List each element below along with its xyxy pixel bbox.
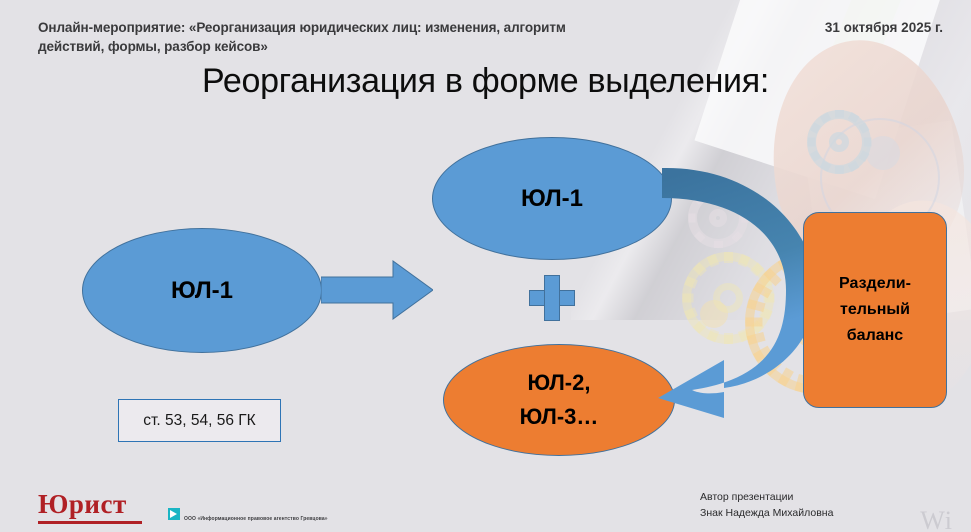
entity-ellipse-spinoff-line2: ЮЛ-3… — [520, 400, 599, 434]
agency-logo: ООО «Информационное правовое агентство Г… — [168, 507, 328, 532]
separation-balance-line1: Раздели- — [839, 271, 911, 297]
arrow-right-icon — [321, 259, 433, 321]
entity-ellipse-remaining: ЮЛ-1 — [432, 137, 672, 260]
curved-arrow-icon — [640, 160, 830, 422]
author-credit: Автор презентации Знак Надежда Михайловн… — [700, 489, 833, 521]
slide-header: Онлайн-мероприятие: «Реорганизация юриди… — [0, 0, 971, 62]
law-reference-box: ст. 53, 54, 56 ГК — [118, 399, 281, 442]
separation-balance-line2: тельный — [839, 297, 911, 323]
page-title: Реорганизация в форме выделения: — [0, 62, 971, 101]
event-date: 31 октября 2025 г. — [825, 20, 943, 35]
brand-logo-text: Юрист — [38, 489, 127, 519]
brand-logo: Юрист — [38, 489, 142, 524]
slide-canvas: Онлайн-мероприятие: «Реорганизация юриди… — [0, 0, 971, 532]
decorative-circle-filled — [866, 136, 900, 170]
event-title: Онлайн-мероприятие: «Реорганизация юриди… — [38, 18, 598, 56]
agency-name: ООО «Информационное правовое агентство Г… — [184, 516, 328, 522]
agency-mark-icon — [168, 508, 180, 520]
brand-logo-underline — [38, 521, 142, 524]
separation-balance-box: Раздели- тельный баланс — [803, 212, 947, 408]
entity-ellipse-source: ЮЛ-1 — [82, 228, 322, 353]
watermark-text: Wi — [920, 506, 953, 532]
plus-icon — [529, 275, 575, 321]
author-label: Автор презентации — [700, 489, 833, 505]
author-name: Знак Надежда Михайловна — [700, 505, 833, 521]
entity-ellipse-spinoff-line1: ЮЛ-2, — [520, 366, 599, 400]
separation-balance-line3: баланс — [839, 323, 911, 349]
